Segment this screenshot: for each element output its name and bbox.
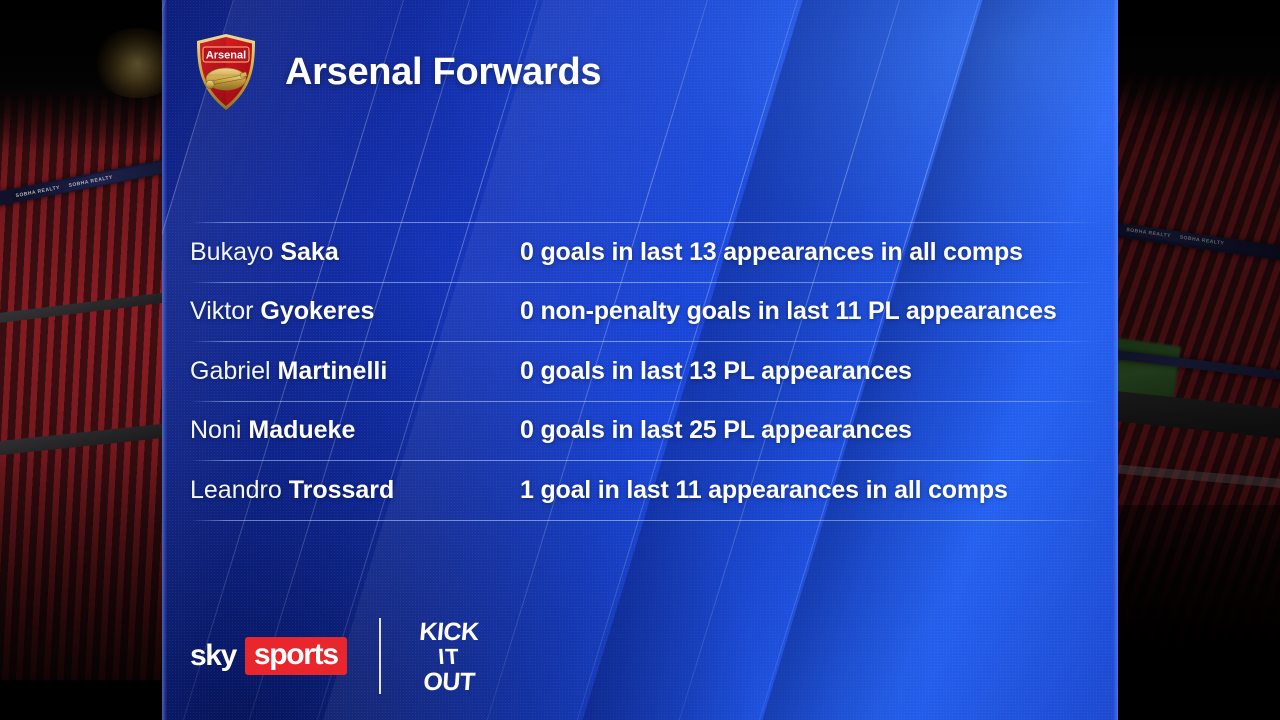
sports-badge: sports — [245, 637, 347, 675]
table-row: Viktor Gyokeres 0 non-penalty goals in l… — [190, 283, 1100, 342]
kick-it-out-line-2: IT — [412, 646, 486, 668]
broadcaster-logos: sky sports KICK IT OUT — [190, 618, 485, 694]
arsenal-crest-icon: Arsenal — [193, 32, 259, 112]
kick-it-out-line-3: OUT — [412, 670, 486, 695]
player-stat: 1 goal in last 11 appearances in all com… — [520, 476, 1008, 505]
sports-wordmark: sports — [254, 640, 338, 670]
player-name: Gabriel Martinelli — [190, 357, 520, 386]
player-name: Viktor Gyokeres — [190, 297, 520, 326]
logo-divider — [379, 618, 381, 694]
row-separator — [190, 520, 1100, 521]
table-row: Leandro Trossard 1 goal in last 11 appea… — [190, 461, 1100, 520]
panel-right-edge — [1113, 0, 1118, 720]
player-stat: 0 non-penalty goals in last 11 PL appear… — [520, 297, 1057, 326]
player-name: Bukayo Saka — [190, 238, 520, 267]
page-title: Arsenal Forwards — [285, 51, 601, 94]
player-stat: 0 goals in last 25 PL appearances — [520, 416, 912, 445]
player-name: Noni Madueke — [190, 416, 520, 445]
panel-left-edge — [162, 0, 167, 720]
sky-sports-logo: sky sports — [190, 638, 347, 674]
forwards-stat-table: Bukayo Saka 0 goals in last 13 appearanc… — [190, 222, 1100, 521]
table-row: Bukayo Saka 0 goals in last 13 appearanc… — [190, 223, 1100, 282]
stats-panel: Arsenal Arsenal Forwards Bukayo Saka — [162, 0, 1118, 720]
player-stat: 0 goals in last 13 PL appearances — [520, 357, 912, 386]
player-name: Leandro Trossard — [190, 476, 520, 505]
svg-text:Arsenal: Arsenal — [206, 50, 246, 62]
sky-wordmark: sky — [190, 641, 245, 671]
broadcast-graphic: SOBHA REALTY SOBHA REALTY SOBHA REALTY S… — [0, 0, 1280, 720]
kick-it-out-line-1: KICK — [412, 620, 486, 645]
table-row: Noni Madueke 0 goals in last 25 PL appea… — [190, 402, 1100, 461]
player-stat: 0 goals in last 13 appearances in all co… — [520, 238, 1023, 267]
panel-header: Arsenal Arsenal Forwards — [193, 32, 601, 112]
table-row: Gabriel Martinelli 0 goals in last 13 PL… — [190, 342, 1100, 401]
kick-it-out-logo: KICK IT OUT — [413, 618, 485, 694]
